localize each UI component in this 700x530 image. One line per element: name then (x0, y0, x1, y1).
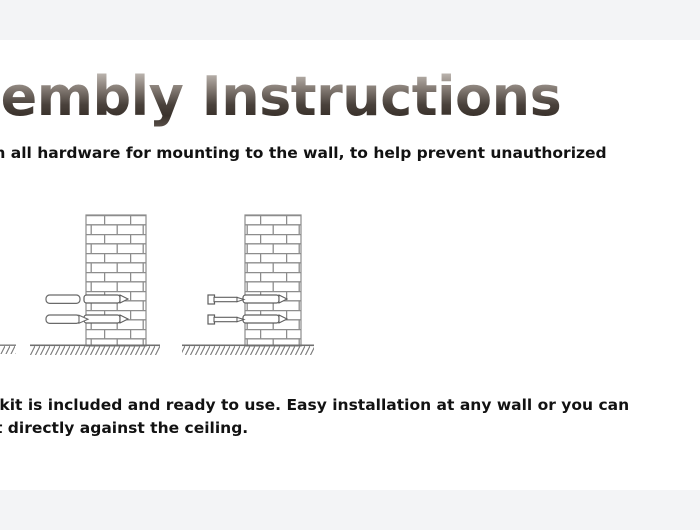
screw-upper (208, 295, 244, 304)
wall-mounting-illustration (0, 196, 700, 366)
brick-wall-left (86, 215, 146, 346)
seated-anchor-upper-right (243, 295, 287, 303)
wall-anchor-lower (46, 315, 88, 323)
page-subtitle: Comes with all hardware for mounting to … (0, 142, 624, 164)
ground-line-left (30, 345, 160, 356)
wall-anchor-upper (46, 295, 80, 303)
diagram-drive-screws (182, 215, 314, 355)
seated-anchor-upper-left (84, 295, 128, 303)
seated-anchor-lower-left (84, 315, 128, 323)
bottom-chrome-band (0, 490, 700, 530)
diagram-insert-anchors (0, 215, 160, 355)
brick-wall-right (245, 215, 301, 346)
ground-fragment-left-icon (0, 345, 16, 355)
page-title: Assembly Instructions (0, 66, 596, 128)
footer-copy-line-1: Anti-tip kit is included and ready to us… (0, 394, 568, 417)
product-info-page: Assembly Instructions Comes with all har… (0, 0, 700, 530)
footer-copy: Anti-tip kit is included and ready to us… (0, 394, 568, 440)
screw-lower (208, 315, 244, 324)
seated-anchor-lower-right (243, 315, 287, 323)
ground-line-right (182, 345, 314, 356)
illustration-svg (0, 196, 700, 366)
top-chrome-band (0, 0, 700, 40)
footer-copy-line-2: mount it directly against the ceiling. (0, 417, 568, 440)
page-title-container: Assembly Instructions (0, 66, 596, 128)
